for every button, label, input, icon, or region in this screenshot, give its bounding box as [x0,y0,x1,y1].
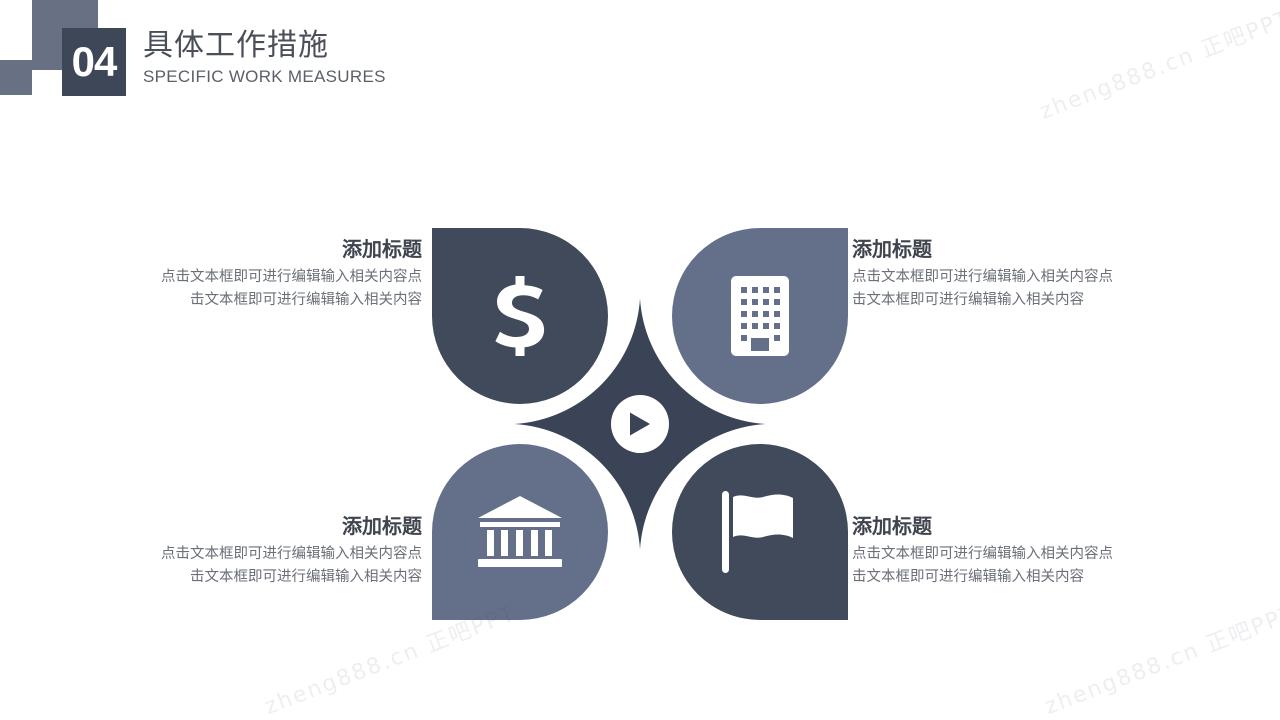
item-body: 点击文本框即可进行编辑输入相关内容点击文本框即可进行编辑输入相关内容 [160,266,422,313]
item-title: 添加标题 [852,513,1114,539]
section-number-badge: 04 [62,28,126,96]
watermark: zheng888.cn 正吧PPT [1039,595,1280,720]
text-block-top-left: 添加标题 点击文本框即可进行编辑输入相关内容点击文本框即可进行编辑输入相关内容 [160,236,422,313]
flag-icon [722,491,798,573]
item-title: 添加标题 [160,513,422,539]
item-body: 点击文本框即可进行编辑输入相关内容点击文本框即可进行编辑输入相关内容 [852,266,1114,313]
watermark: zheng888.cn 正吧PPT [1034,0,1280,126]
text-block-top-right: 添加标题 点击文本框即可进行编辑输入相关内容点击文本框即可进行编辑输入相关内容 [852,236,1114,313]
item-body: 点击文本框即可进行编辑输入相关内容点击文本框即可进行编辑输入相关内容 [160,543,422,590]
header-text-group: 具体工作措施 SPECIFIC WORK MEASURES [143,29,386,87]
page-title: 具体工作措施 [143,29,386,64]
item-title: 添加标题 [852,236,1114,262]
petal-top-left[interactable] [432,228,608,404]
petal-top-right[interactable] [672,228,848,404]
petal-bottom-right[interactable] [672,444,848,620]
petal-bottom-left[interactable] [432,444,608,620]
header-decoration-square-small [0,60,32,95]
item-title: 添加标题 [160,236,422,262]
center-play-button[interactable] [611,395,669,453]
text-block-bottom-left: 添加标题 点击文本框即可进行编辑输入相关内容点击文本框即可进行编辑输入相关内容 [160,513,422,590]
section-number: 04 [72,41,117,83]
page-subtitle: SPECIFIC WORK MEASURES [143,67,386,87]
dollar-icon [488,276,552,356]
office-building-icon [731,276,789,356]
play-icon [628,411,652,437]
text-block-bottom-right: 添加标题 点击文本框即可进行编辑输入相关内容点击文本框即可进行编辑输入相关内容 [852,513,1114,590]
slide-canvas: 04 具体工作措施 SPECIFIC WORK MEASURES [0,0,1280,720]
four-petal-diagram [432,228,848,620]
item-body: 点击文本框即可进行编辑输入相关内容点击文本框即可进行编辑输入相关内容 [852,543,1114,590]
bank-icon [477,496,563,568]
